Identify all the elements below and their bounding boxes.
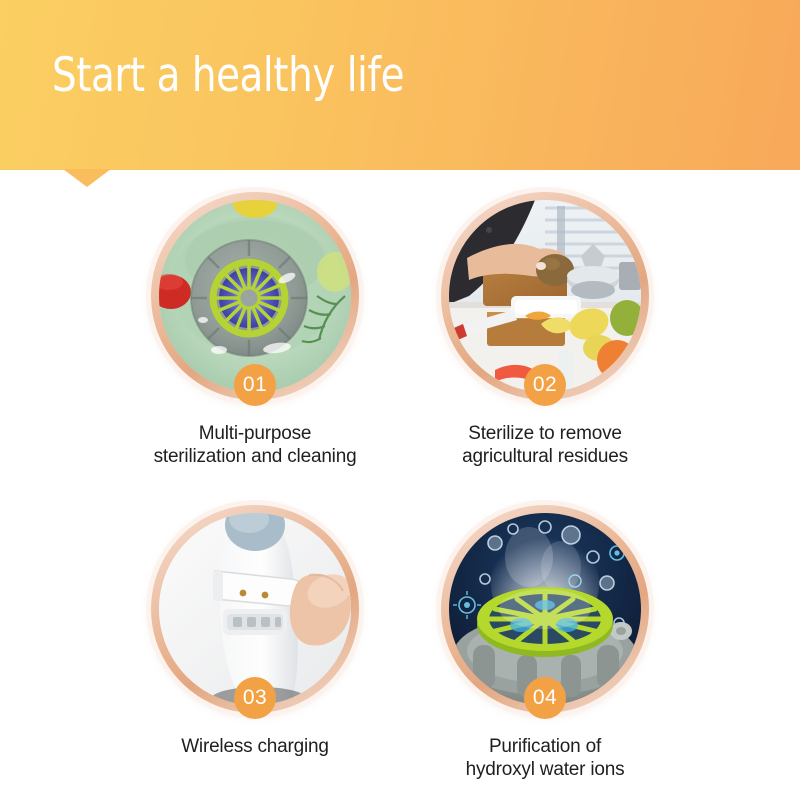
feature-badge-04: 04 — [524, 677, 566, 719]
feature-circle-03[interactable]: 03 — [151, 505, 359, 713]
feature-circle-01[interactable]: 01 — [151, 192, 359, 400]
header-banner: Start a healthy life — [0, 0, 800, 170]
feature-grid: 01 Multi-purpose sterilization and clean… — [0, 170, 800, 800]
feature-badge-02: 02 — [524, 364, 566, 406]
feature-circle-04[interactable]: 04 — [441, 505, 649, 713]
feature-caption-04: Purification of hydroxyl water ions — [345, 735, 745, 781]
caption-line-2: agricultural residues — [345, 445, 745, 468]
page-title: Start a healthy life — [52, 52, 404, 99]
caption-line-1: Sterilize to remove — [345, 422, 745, 445]
caption-line-2: hydroxyl water ions — [345, 758, 745, 781]
feature-circle-02[interactable]: 02 — [441, 192, 649, 400]
feature-item-04[interactable]: 04 Purification of hydroxyl water ions — [345, 505, 745, 781]
feature-item-02[interactable]: 02 Sterilize to remove agricultural resi… — [345, 192, 745, 468]
feature-caption-02: Sterilize to remove agricultural residue… — [345, 422, 745, 468]
feature-badge-01: 01 — [234, 364, 276, 406]
caption-line-1: Purification of — [345, 735, 745, 758]
feature-badge-03: 03 — [234, 677, 276, 719]
